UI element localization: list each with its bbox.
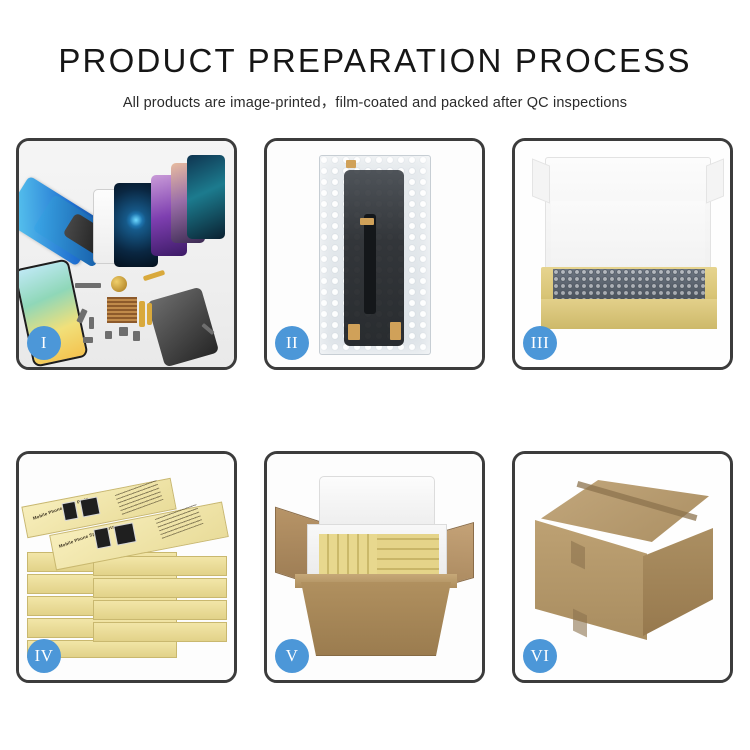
process-step-panel-2: II — [264, 138, 485, 370]
carton-with-foam-box-photo: V — [267, 454, 482, 680]
process-step-panel-3: III — [512, 138, 733, 370]
process-step-panel-1: I — [16, 138, 237, 370]
step-badge-6: VI — [523, 639, 557, 673]
stacked-retail-boxes-photo: Mobile Phone Spare Parts Mobile Phone Sp… — [19, 454, 234, 680]
bubble-wrapped-screen-photo: II — [267, 141, 482, 367]
step-badge-4: IV — [27, 639, 61, 673]
product-preparation-infographic: PRODUCT PREPARATION PROCESS All products… — [0, 0, 750, 750]
open-inner-box-photo: III — [515, 141, 730, 367]
process-step-grid: I II — [16, 138, 734, 683]
page-subtitle: All products are image-printed，film-coat… — [0, 91, 750, 112]
process-step-panel-5: V — [264, 451, 485, 683]
step-badge-5: V — [275, 639, 309, 673]
step-badge-1: I — [27, 326, 61, 360]
process-step-panel-6: VI — [512, 451, 733, 683]
step-badge-3: III — [523, 326, 557, 360]
sealed-carton-photo: VI — [515, 454, 730, 680]
step-badge-2: II — [275, 326, 309, 360]
phone-parts-photo: I — [19, 141, 234, 367]
header: PRODUCT PREPARATION PROCESS All products… — [0, 0, 750, 112]
page-title: PRODUCT PREPARATION PROCESS — [0, 42, 750, 80]
process-step-panel-4: Mobile Phone Spare Parts Mobile Phone Sp… — [16, 451, 237, 683]
